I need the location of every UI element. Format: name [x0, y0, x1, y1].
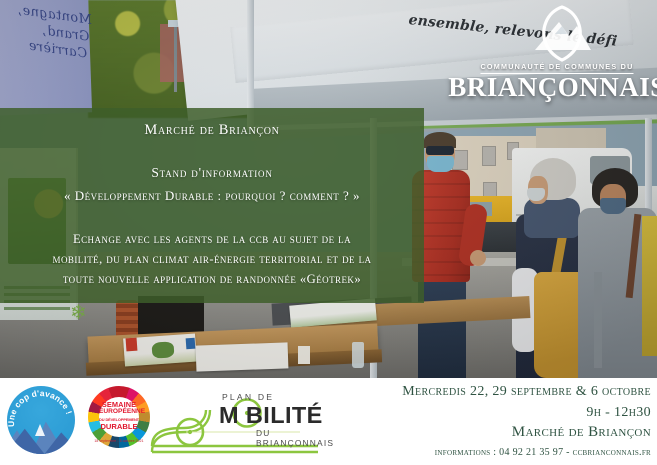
cop-arc-text: Une cop d'avance ! [7, 386, 75, 454]
mobility-du-label: DU BRIANÇONNAIS [256, 428, 334, 448]
ccb-logo: COMMUNAUTÉ DE COMMUNES DU BRIANÇONNAIS [463, 2, 651, 106]
flyer-map-graphic [151, 341, 174, 358]
water-bottle [352, 342, 364, 368]
poster-root: ensemble, relevons le défi Montagne, Gra… [0, 0, 657, 465]
footer-time-line: 9h - 12h30 [586, 405, 651, 421]
lavender-banner-text: Montagne, Grand, Carrière [0, 1, 93, 115]
cup [298, 346, 310, 364]
une-cop-davance-logo: Une cop d'avance ! [7, 386, 75, 454]
person-legs [418, 280, 466, 378]
flyer [196, 342, 289, 371]
panel-body-line1: Echange avec les agents de la ccb au suj… [18, 229, 406, 249]
panel-subtitle-line2: « Développement Durable : pourquoi ? com… [18, 188, 406, 204]
panel-body-block: Echange avec les agents de la ccb au suj… [18, 229, 406, 289]
semaine-europeenne-du-developpement-durable-logo: SEMAINE EUROPÉENNE DU DÉVELOPPEMENT DURA… [88, 386, 150, 448]
panel-body-line2: mobilité, du plan climat air-énergie ter… [18, 249, 406, 269]
coat-belt [594, 272, 602, 368]
flyer-blue-mark [186, 338, 196, 350]
window [482, 146, 496, 166]
sdg-date-label: 18 septembre - 8 octobre 2021 [88, 439, 150, 443]
sunglasses-icon [426, 146, 454, 155]
svg-text:Une cop d'avance !: Une cop d'avance ! [7, 388, 74, 427]
mobility-plan-de-label: PLAN DE [222, 392, 274, 402]
ccb-mountain-ribbon-emblem [525, 4, 599, 62]
person-hand [470, 250, 486, 266]
panel-subtitle-line1: Stand d'information [18, 165, 406, 181]
street-pole [174, 22, 177, 92]
footer-place-line: Marché de Briançon [512, 424, 651, 441]
footer-date-line: Mercredis 22, 29 septembre & 6 octobre [402, 384, 651, 400]
sdg-label-block: SEMAINE EUROPÉENNE DU DÉVELOPPEMENT DURA… [99, 401, 139, 431]
leaf-icon: ❄ [70, 302, 94, 324]
panel-title: Marché de Briançon [18, 122, 406, 139]
flyer-red-mark [126, 338, 138, 352]
scarf [524, 198, 580, 238]
sdg-line2: EUROPÉENNE [99, 408, 139, 415]
green-info-panel: Marché de Briançon Stand d'information «… [0, 108, 424, 303]
sdg-line4: DURABLE [99, 423, 139, 430]
mobility-word-label: M BILITÉ [219, 402, 323, 429]
person-distant [642, 216, 657, 356]
panel-subtitle-block: Stand d'information « Développement Dura… [18, 165, 406, 204]
ccb-logo-line2: BRIANÇONNAIS [448, 72, 657, 103]
ccb-logo-line1: COMMUNAUTÉ DE COMMUNES DU [480, 62, 633, 71]
footer-info-line: informations : 04 92 21 35 97 - ccbrianc… [435, 447, 651, 458]
panel-body-line3: toute nouvelle application de randonnée … [18, 269, 406, 289]
cop-arc-label: Une cop d'avance ! [7, 388, 74, 427]
face-mask-icon [600, 198, 626, 214]
plan-de-mobilite-du-brianconnais-logo: PLAN DE M BILITÉ DU BRIANÇONNAIS [150, 384, 325, 458]
face-mask-icon [427, 156, 454, 172]
